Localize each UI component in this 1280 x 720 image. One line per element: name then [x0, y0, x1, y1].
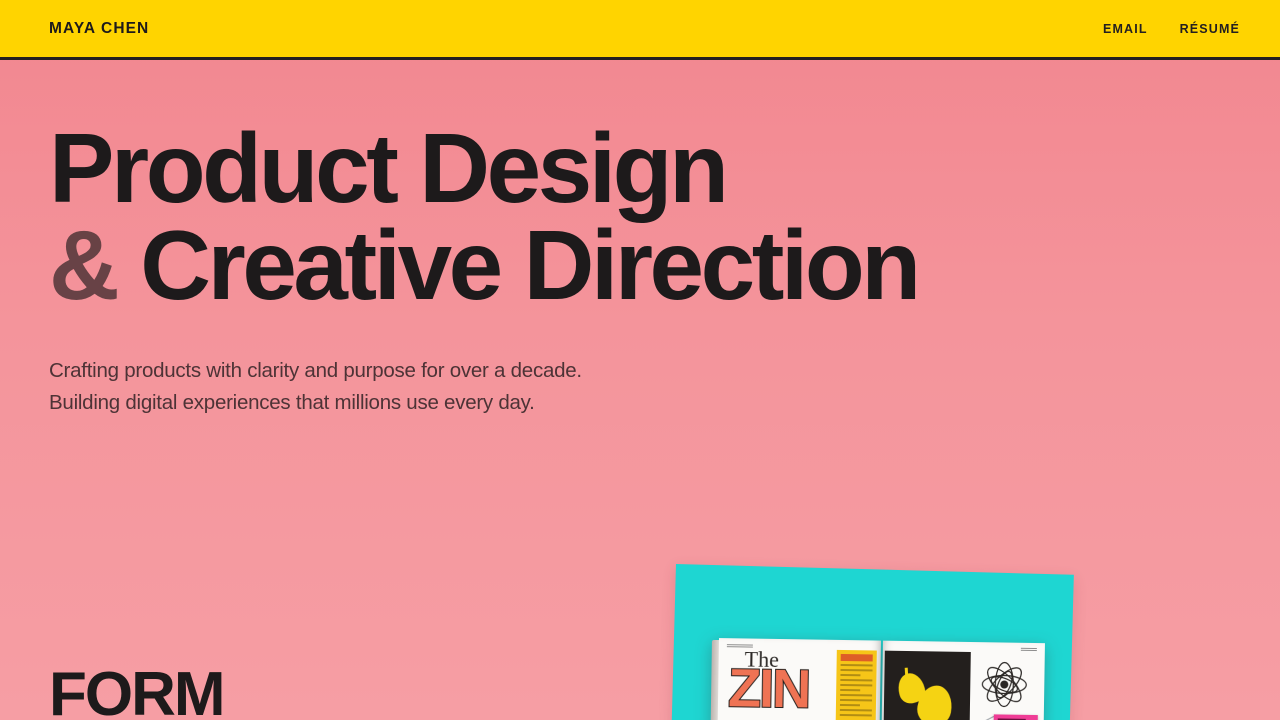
open-magazine: The ZIN [714, 638, 1046, 720]
magazine-right-page [881, 641, 1045, 720]
yellow-column-headline [841, 654, 873, 662]
yellow-column-text-line [841, 669, 873, 671]
section-heading-form: FORM [49, 664, 224, 720]
yellow-column-text-line [840, 679, 872, 681]
brand-name[interactable]: MAYA CHEN [49, 20, 149, 38]
hero-photo: The ZIN [668, 556, 1088, 720]
magazine-display-word: ZIN [728, 666, 810, 712]
nav-link-email[interactable]: EMAIL [1103, 22, 1148, 36]
atom-flower-icon [978, 658, 1031, 711]
magazine-black-photo-panel [883, 651, 970, 720]
hero-subtitle-line-2: Building digital experiences that millio… [49, 387, 582, 419]
yellow-column-text-line [840, 689, 860, 691]
yellow-column-text-line [840, 699, 872, 701]
magazine-yellow-column [835, 650, 876, 720]
yellow-column-text-line [840, 694, 872, 696]
hero-section: Product Design & Creative Direction Craf… [0, 0, 1280, 720]
magenta-sticky-note [993, 714, 1037, 720]
headline-ampersand: & [49, 210, 116, 320]
magazine-left-page: The ZIN [717, 638, 881, 720]
yellow-column-text-line [840, 709, 872, 711]
nav-link-resume[interactable]: RÉSUMÉ [1180, 22, 1240, 36]
site-header: MAYA CHEN EMAIL RÉSUMÉ [0, 0, 1280, 60]
yellow-column-text-line [841, 664, 873, 666]
hero-subtitle-line-1: Crafting products with clarity and purpo… [49, 355, 582, 387]
page-root: MAYA CHEN EMAIL RÉSUMÉ Product Design & … [0, 0, 1280, 720]
yellow-column-text-line [840, 674, 860, 676]
yellow-column-text-line [840, 684, 872, 686]
headline-line-2: & Creative Direction [49, 217, 1149, 314]
page-title: Product Design & Creative Direction [49, 120, 1149, 314]
headline-line-2-text: Creative Direction [140, 210, 918, 320]
yellow-column-text-line [840, 714, 872, 716]
yellow-column-text-line [840, 704, 860, 706]
main-nav: EMAIL RÉSUMÉ [1103, 22, 1240, 36]
headline-line-1: Product Design [49, 120, 1149, 217]
magazine-folio-lines [1021, 648, 1037, 651]
hero-subtitle: Crafting products with clarity and purpo… [49, 355, 582, 420]
